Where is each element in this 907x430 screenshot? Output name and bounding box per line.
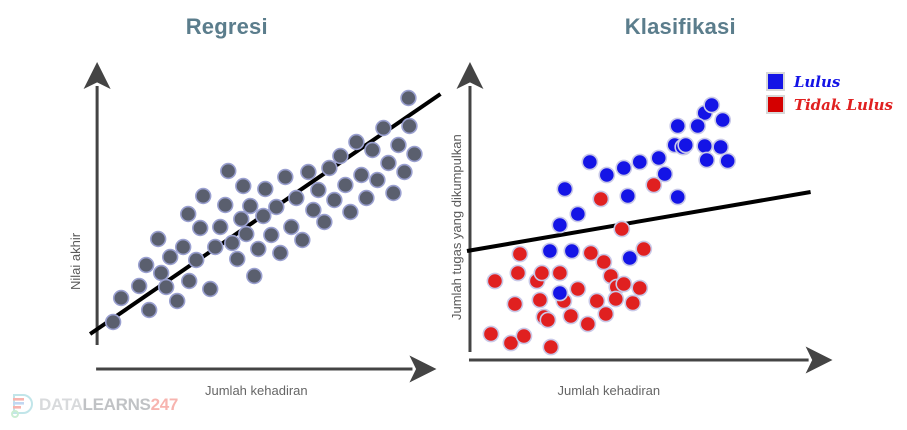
x-axis-label-regression: Jumlah kehadiran [205,383,308,398]
y-axis-label-regression: Nilai akhir [68,233,83,290]
regression-plot [0,0,454,430]
x-axis-label-classification: Jumlah kehadiran [558,383,661,398]
legend-item-lulus[interactable]: Lulus [766,72,893,91]
scatter-points-regression [106,91,422,330]
y-axis-label-classification: Jumlah tugas yang dikumpulkan [449,134,464,320]
legend-item-tidak-lulus[interactable]: Tidak Lulus [766,95,893,114]
watermark-part-247: 247 [151,395,178,414]
watermark-datalearns: DATALEARNS247 [10,392,178,418]
panel-classification: Klasifikasi [454,0,907,430]
panel-regression: Regresi [0,0,454,430]
scatter-points-lulus [542,97,735,300]
legend-label-lulus: Lulus [794,73,841,91]
legend-swatch-lulus [766,72,785,91]
legend-label-tidak-lulus: Tidak Lulus [794,96,893,114]
legend: Lulus Tidak Lulus [766,72,893,114]
watermark-part-data: DATA [39,395,83,414]
decision-boundary-classification [466,192,810,251]
legend-swatch-tidak-lulus [766,95,785,114]
watermark-part-learns: LEARNS [83,395,151,414]
figure-container: Regresi [0,0,907,430]
scatter-points-tidak-lulus [483,177,661,354]
datalearns-logo-icon [10,392,34,418]
classification-plot [454,0,907,430]
